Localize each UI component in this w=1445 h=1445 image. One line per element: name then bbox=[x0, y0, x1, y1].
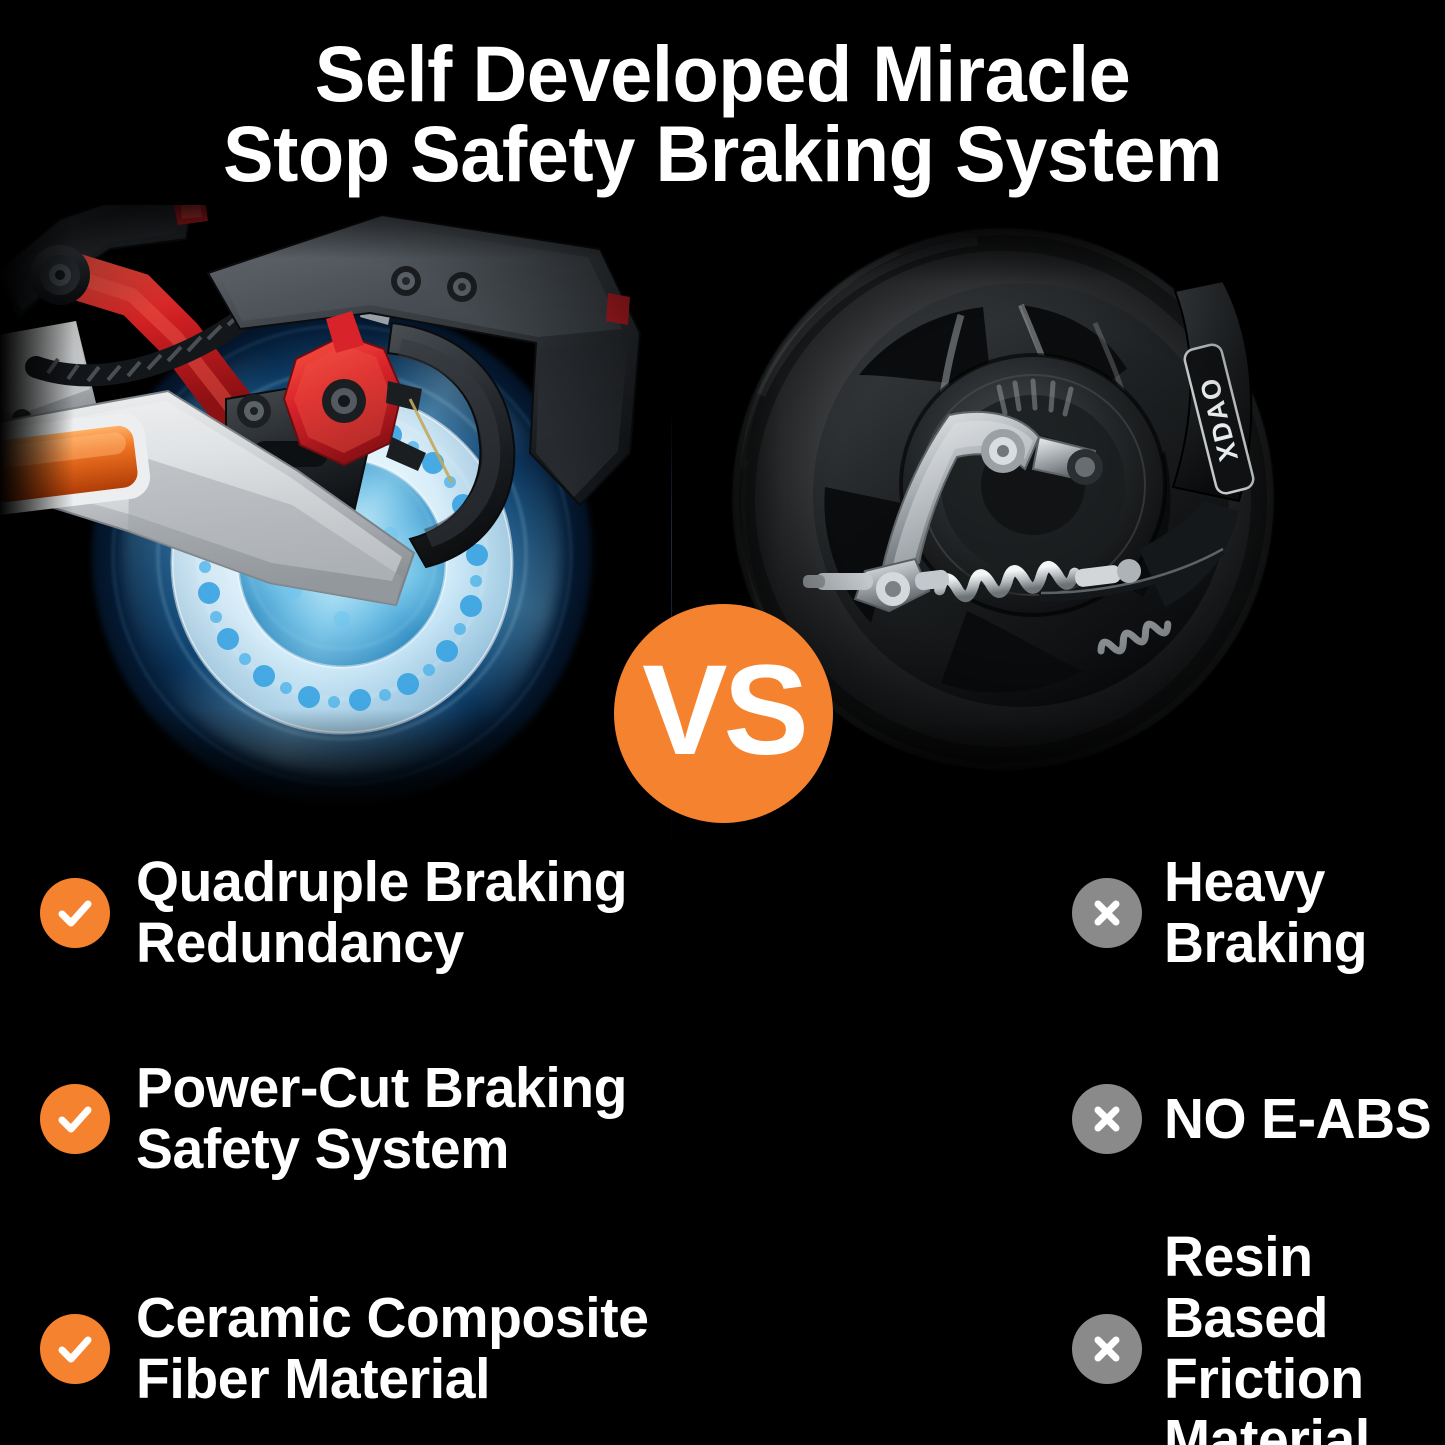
infographic-root: Self Developed Miracle Stop Safety Braki… bbox=[0, 0, 1445, 1445]
check-icon bbox=[40, 878, 110, 948]
con-feature-label: Resin Based Friction Material bbox=[1164, 1227, 1437, 1445]
feature-row: Quadruple Braking Redundancy Heavy Braki… bbox=[0, 838, 1445, 988]
cross-icon bbox=[1072, 1314, 1142, 1384]
cross-icon bbox=[1072, 878, 1142, 948]
left-product-photo bbox=[0, 205, 672, 805]
pro-feature-item: Ceramic Composite Fiber Material bbox=[0, 1274, 860, 1424]
pro-feature-label: Quadruple Braking Redundancy bbox=[136, 852, 627, 974]
scooter-rear-assembly-icon bbox=[0, 205, 672, 713]
feature-row: Power-Cut Braking Safety System NO E-ABS bbox=[0, 1044, 1445, 1194]
pro-feature-item: Quadruple Braking Redundancy bbox=[0, 838, 860, 988]
con-feature-item: Heavy Braking bbox=[860, 838, 1445, 988]
feature-comparison-list: Quadruple Braking Redundancy Heavy Braki… bbox=[0, 838, 1445, 1445]
pro-feature-label: Power-Cut Braking Safety System bbox=[136, 1058, 627, 1180]
pro-feature-label: Ceramic Composite Fiber Material bbox=[136, 1288, 649, 1410]
title-line-2: Stop Safety Braking System bbox=[29, 114, 1416, 194]
con-feature-label: NO E-ABS bbox=[1164, 1089, 1431, 1150]
page-title: Self Developed Miracle Stop Safety Braki… bbox=[0, 34, 1445, 194]
con-feature-item: Resin Based Friction Material bbox=[860, 1274, 1445, 1424]
pro-feature-item: Power-Cut Braking Safety System bbox=[0, 1044, 860, 1194]
vs-badge: VS bbox=[614, 604, 833, 823]
check-icon bbox=[40, 1314, 110, 1384]
con-feature-label: Heavy Braking bbox=[1164, 852, 1437, 974]
con-feature-item: NO E-ABS bbox=[860, 1044, 1445, 1194]
vs-label: VS bbox=[642, 647, 805, 775]
check-icon bbox=[40, 1084, 110, 1154]
feature-row: Ceramic Composite Fiber Material Resin B… bbox=[0, 1274, 1445, 1424]
title-line-1: Self Developed Miracle bbox=[29, 34, 1416, 114]
cross-icon bbox=[1072, 1084, 1142, 1154]
